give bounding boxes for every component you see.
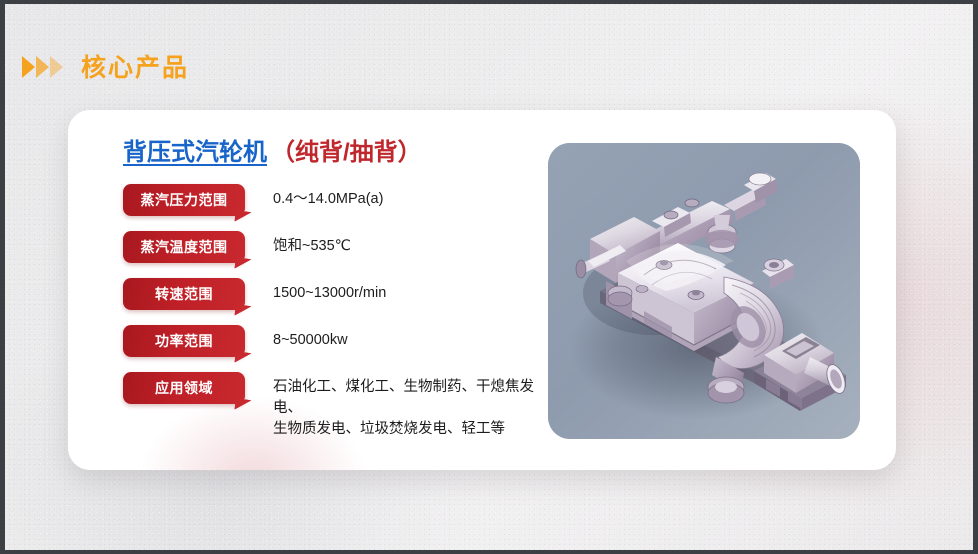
product-title-sub: （纯背/抽背） <box>271 139 422 166</box>
spec-label-badge: 应用领域 <box>123 372 245 404</box>
spec-row: 转速范围 1500~13000r/min <box>123 278 543 310</box>
section-header: 核心产品 <box>22 48 189 84</box>
spec-value: 石油化工、煤化工、生物制药、干熄焦发电、 生物质发电、垃圾焚烧发电、轻工等 <box>273 372 543 440</box>
spec-label-badge: 蒸汽温度范围 <box>123 231 245 263</box>
spec-row: 功率范围 8~50000kw <box>123 325 543 357</box>
product-title-main: 背压式汽轮机 <box>123 139 267 166</box>
slide: 核心产品 背压式汽轮机（纯背/抽背） 蒸汽压力范围 0.4～14.0MPa(a)… <box>0 0 978 554</box>
spec-value: 0.4～14.0MPa(a) <box>273 184 543 210</box>
chevron-right-icon-3 <box>50 56 63 78</box>
double-chevron-right-icon <box>22 56 63 78</box>
section-title: 核心产品 <box>81 48 189 84</box>
spec-value: 饱和~535℃ <box>273 231 543 257</box>
spec-label-badge: 功率范围 <box>123 325 245 357</box>
product-title: 背压式汽轮机（纯背/抽背） <box>123 140 543 166</box>
product-card: 背压式汽轮机（纯背/抽背） 蒸汽压力范围 0.4～14.0MPa(a) 蒸汽温度… <box>68 110 896 470</box>
spec-row: 蒸汽温度范围 饱和~535℃ <box>123 231 543 263</box>
spec-value: 1500~13000r/min <box>273 278 543 304</box>
chevron-right-icon-1 <box>22 56 35 78</box>
product-details: 背压式汽轮机（纯背/抽背） 蒸汽压力范围 0.4～14.0MPa(a) 蒸汽温度… <box>123 140 543 455</box>
spec-row: 应用领域 石油化工、煤化工、生物制药、干熄焦发电、 生物质发电、垃圾焚烧发电、轻… <box>123 372 543 440</box>
spec-label-badge: 蒸汽压力范围 <box>123 184 245 216</box>
turbine-3d-render <box>548 143 860 439</box>
chevron-right-icon-2 <box>36 56 49 78</box>
spec-value: 8~50000kw <box>273 325 543 351</box>
product-image-panel <box>548 143 860 439</box>
spec-label-badge: 转速范围 <box>123 278 245 310</box>
spec-row: 蒸汽压力范围 0.4～14.0MPa(a) <box>123 184 543 216</box>
